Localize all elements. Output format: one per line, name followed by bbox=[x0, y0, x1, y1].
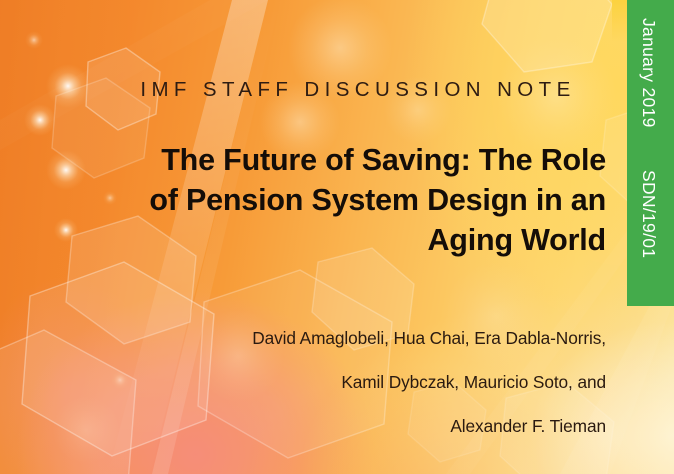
sidebar-green-band: January 2019 SDN/19/01 bbox=[627, 0, 674, 306]
author-line-2: Kamil Dybczak, Mauricio Soto, and bbox=[100, 360, 606, 404]
author-line-3: Alexander F. Tieman bbox=[100, 404, 606, 448]
sidebar-document-number: SDN/19/01 bbox=[638, 170, 659, 258]
sidebar-publication-date: January 2019 bbox=[638, 18, 659, 128]
title-line-1: The Future of Saving: The Role bbox=[161, 143, 606, 177]
title-line-3: Aging World bbox=[427, 223, 606, 257]
series-kicker: IMF STAFF DISCUSSION NOTE bbox=[110, 78, 606, 102]
publication-cover: IMF STAFF DISCUSSION NOTE The Future of … bbox=[0, 0, 674, 474]
yellow-accent-sliver bbox=[612, 0, 628, 42]
author-list: David Amaglobeli, Hua Chai, Era Dabla-No… bbox=[100, 316, 606, 448]
title-line-2: of Pension System Design in an bbox=[149, 183, 606, 217]
author-line-1: David Amaglobeli, Hua Chai, Era Dabla-No… bbox=[100, 316, 606, 360]
sidebar-green-band-inner: January 2019 SDN/19/01 bbox=[627, 0, 674, 306]
page-title: The Future of Saving: The Role of Pensio… bbox=[70, 140, 606, 260]
cover-text-block: IMF STAFF DISCUSSION NOTE The Future of … bbox=[0, 0, 606, 474]
